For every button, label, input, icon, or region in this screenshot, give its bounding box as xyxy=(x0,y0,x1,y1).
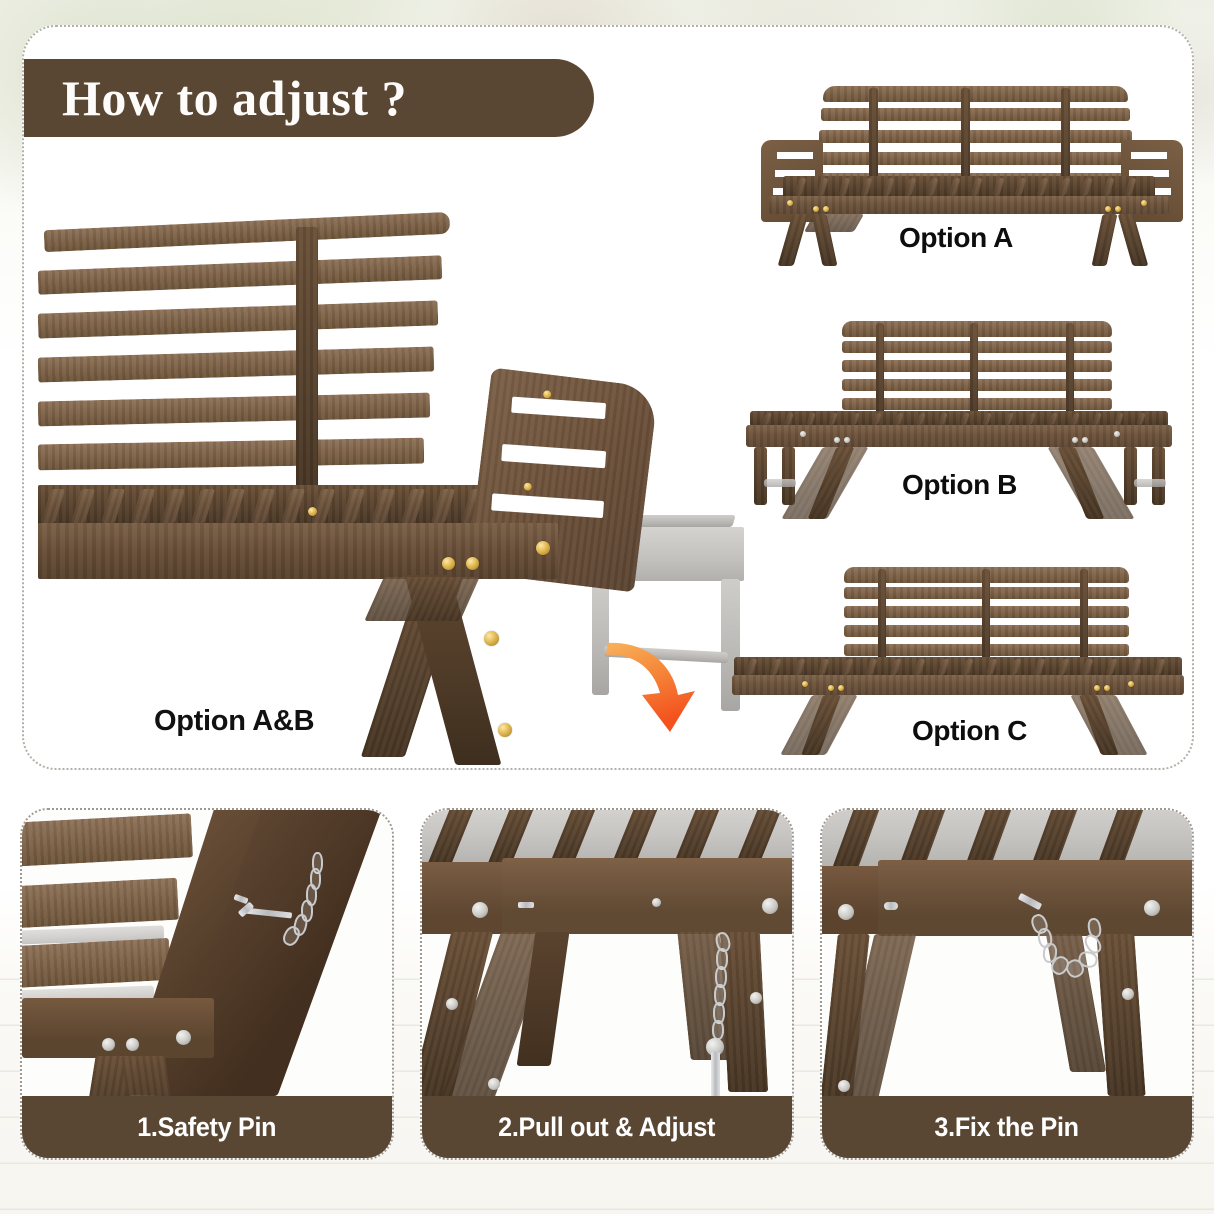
hero-illustration-option-ab: Option A&B xyxy=(38,197,738,757)
step-3-caption-bar: 3.Fix the Pin xyxy=(822,1096,1192,1158)
option-a-thumbnail: Option A xyxy=(739,72,1194,272)
step-1-photo xyxy=(22,810,392,1096)
page-title: How to adjust ? xyxy=(62,69,407,127)
step-3-photo xyxy=(822,810,1192,1096)
option-c-label: Option C xyxy=(912,715,1027,747)
step-panel-safety-pin: 1.Safety Pin xyxy=(20,808,394,1160)
title-banner: How to adjust ? xyxy=(22,59,594,137)
step-2-caption: 2.Pull out & Adjust xyxy=(499,1112,716,1143)
step-2-caption-bar: 2.Pull out & Adjust xyxy=(422,1096,792,1158)
step-2-photo xyxy=(422,810,792,1096)
hero-option-label: Option A&B xyxy=(154,705,314,738)
option-c-thumbnail: Option C xyxy=(724,547,1194,747)
step-1-caption-bar: 1.Safety Pin xyxy=(22,1096,392,1158)
step-1-caption: 1.Safety Pin xyxy=(137,1112,276,1143)
option-b-label: Option B xyxy=(902,469,1017,501)
step-3-caption: 3.Fix the Pin xyxy=(935,1112,1079,1143)
option-a-label: Option A xyxy=(899,222,1013,254)
how-to-adjust-card: How to adjust ? xyxy=(22,25,1194,770)
option-b-thumbnail: Option B xyxy=(724,307,1194,507)
step-panel-pull-out-adjust: 2.Pull out & Adjust xyxy=(420,808,794,1160)
fold-down-arrow-icon xyxy=(598,637,708,737)
step-panel-fix-the-pin: 3.Fix the Pin xyxy=(820,808,1194,1160)
